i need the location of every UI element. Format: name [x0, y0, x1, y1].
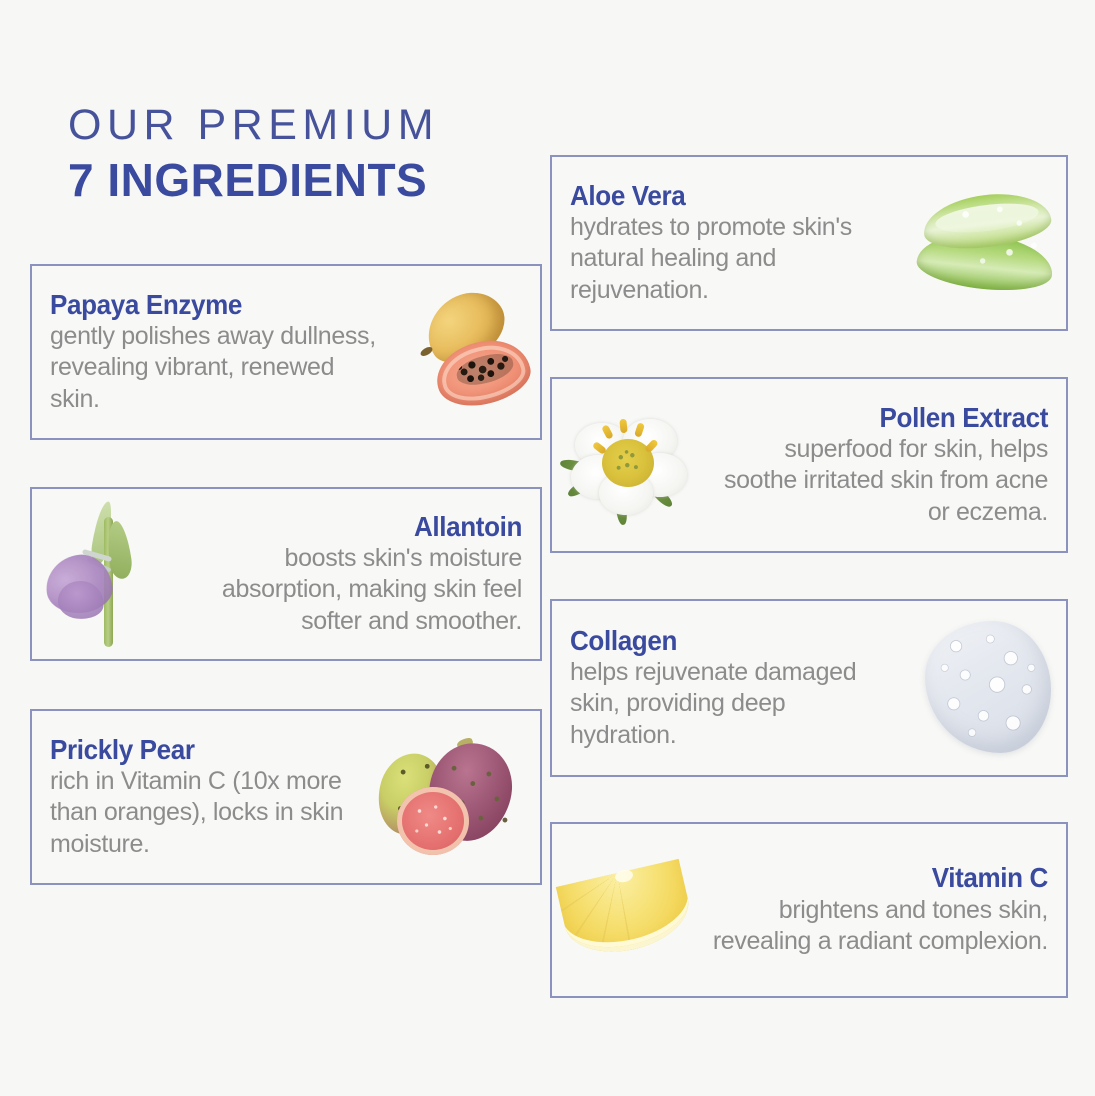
card-media-vitamin-c — [552, 824, 702, 996]
card-title-allantoin: Allantoin — [206, 511, 522, 542]
card-text-papaya: Papaya Enzyme gently polishes away dulln… — [32, 289, 394, 415]
pollen-flower-image — [558, 395, 698, 535]
card-desc-aloe: hydrates to promote skin's natural heali… — [570, 212, 892, 306]
title-line-premium: OUR PREMIUM — [68, 104, 538, 147]
card-text-vitamin-c: Vitamin C brightens and tones skin, reve… — [702, 862, 1066, 957]
card-desc-vitamin-c: brightens and tones skin, revealing a ra… — [712, 895, 1048, 958]
card-title-prickly-pear: Prickly Pear — [50, 734, 327, 765]
ingredients-infographic: OUR PREMIUM 7 INGREDIENTS Papaya Enzyme … — [0, 0, 1095, 1096]
card-media-aloe — [906, 157, 1066, 329]
page-title: OUR PREMIUM 7 INGREDIENTS — [68, 104, 538, 207]
card-media-prickly-pear — [362, 711, 540, 883]
card-title-papaya: Papaya Enzyme — [50, 289, 357, 320]
card-desc-allantoin: boosts skin's moisture absorption, makin… — [182, 543, 522, 637]
card-media-collagen — [910, 601, 1066, 775]
ingredient-card-collagen: Collagen helps rejuvenate damaged skin, … — [550, 599, 1068, 777]
title-line-ingredients: 7 INGREDIENTS — [68, 153, 538, 207]
ingredient-card-allantoin: Allantoin boosts skin's moisture absorpt… — [30, 487, 542, 661]
card-title-vitamin-c: Vitamin C — [736, 862, 1048, 893]
aloe-vera-image — [915, 189, 1057, 297]
card-media-allantoin — [32, 489, 172, 659]
prickly-pear-image — [369, 735, 534, 860]
card-text-aloe: Aloe Vera hydrates to promote skin's nat… — [552, 180, 906, 306]
card-desc-papaya: gently polishes away dullness, revealing… — [50, 321, 380, 415]
card-title-collagen: Collagen — [570, 625, 873, 656]
card-desc-collagen: helps rejuvenate damaged skin, providing… — [570, 657, 896, 751]
card-title-aloe: Aloe Vera — [570, 180, 869, 211]
card-desc-pollen: superfood for skin, helps soothe irritat… — [714, 434, 1048, 528]
collagen-gel-image — [919, 617, 1057, 759]
papaya-image — [402, 292, 532, 412]
card-desc-prickly-pear: rich in Vitamin C (10x more than oranges… — [50, 766, 348, 860]
card-text-prickly-pear: Prickly Pear rich in Vitamin C (10x more… — [32, 734, 362, 860]
ingredient-card-prickly-pear: Prickly Pear rich in Vitamin C (10x more… — [30, 709, 542, 885]
card-media-papaya — [394, 266, 540, 438]
lemon-wedge-image — [561, 850, 693, 970]
card-title-pollen: Pollen Extract — [737, 402, 1048, 433]
card-text-allantoin: Allantoin boosts skin's moisture absorpt… — [172, 511, 540, 637]
card-text-pollen: Pollen Extract superfood for skin, helps… — [704, 402, 1066, 528]
ingredient-card-pollen-extract: Pollen Extract superfood for skin, helps… — [550, 377, 1068, 553]
ingredient-card-aloe-vera: Aloe Vera hydrates to promote skin's nat… — [550, 155, 1068, 331]
ingredient-card-vitamin-c: Vitamin C brightens and tones skin, reve… — [550, 822, 1068, 998]
card-text-collagen: Collagen helps rejuvenate damaged skin, … — [552, 625, 910, 751]
ingredient-card-papaya-enzyme: Papaya Enzyme gently polishes away dulln… — [30, 264, 542, 440]
card-media-pollen — [552, 379, 704, 551]
comfrey-flower-image — [42, 499, 162, 649]
